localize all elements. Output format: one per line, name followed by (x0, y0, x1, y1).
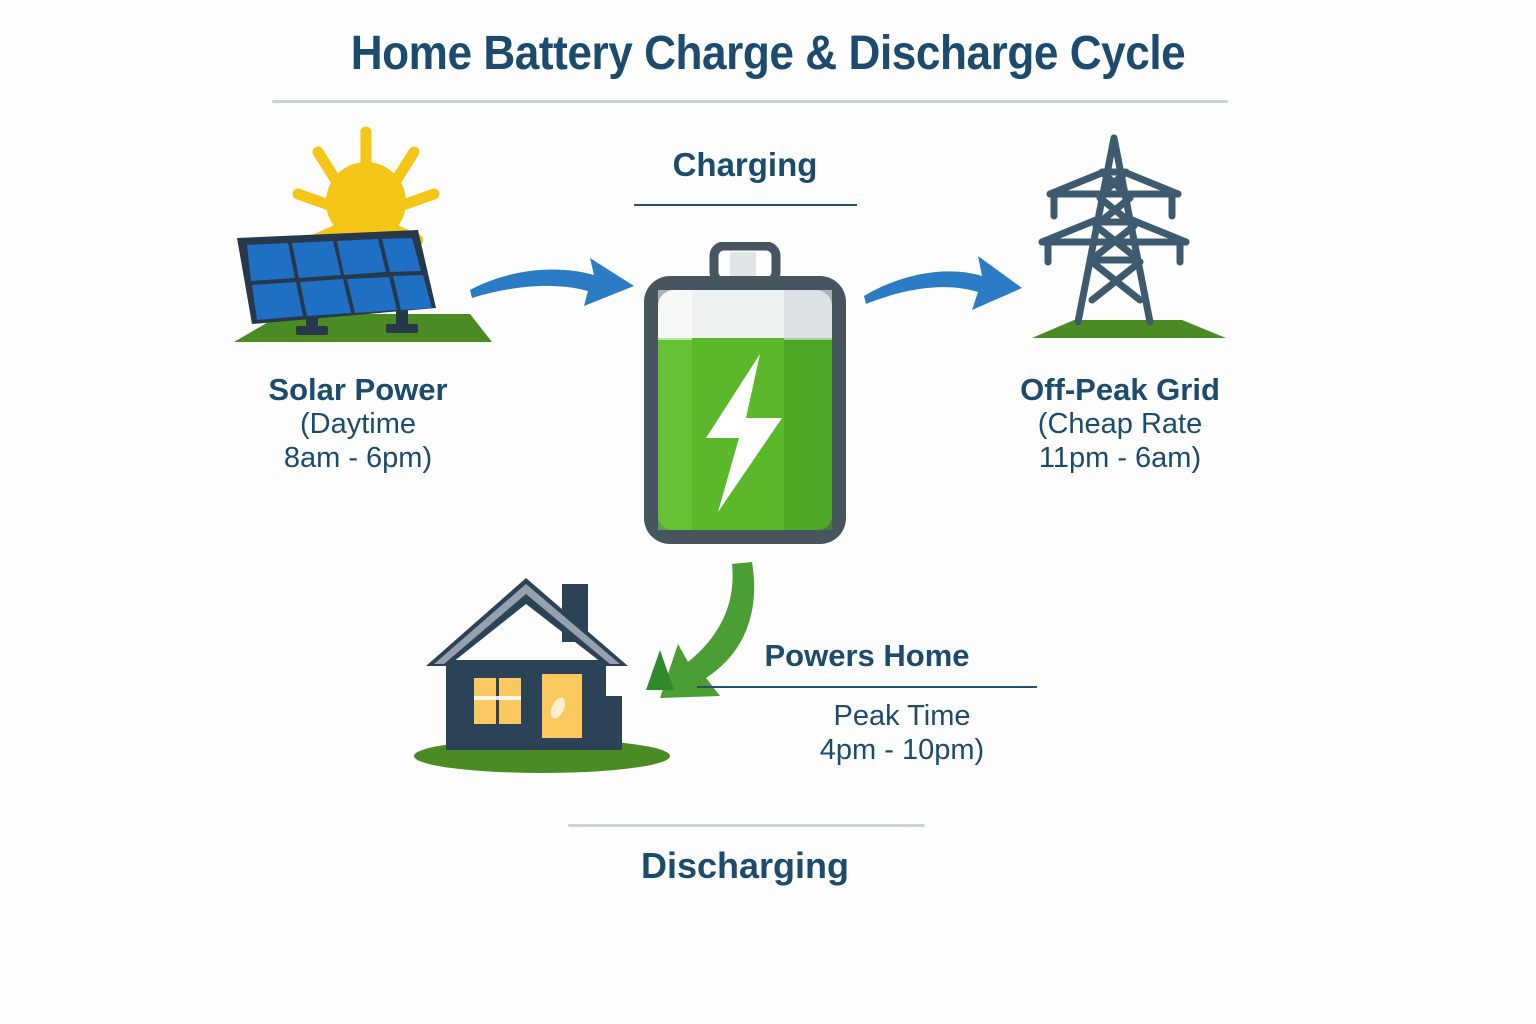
power-pylon-icon (1020, 122, 1236, 352)
grid-label-group: Off-Peak Grid (Cheap Rate 11pm - 6am) (960, 372, 1280, 475)
blue-curved-arrow-right-icon-2 (858, 248, 1028, 320)
powers-home-underline (697, 686, 1037, 688)
home-detail: Peak Time (752, 700, 1052, 734)
home-title: Powers Home (717, 638, 1017, 674)
house-icon (410, 560, 674, 780)
solar-time: 8am - 6pm) (198, 442, 518, 476)
home-time: 4pm - 10pm) (752, 734, 1052, 768)
discharging-label: Discharging (595, 845, 895, 887)
grid-time: 11pm - 6am) (960, 442, 1280, 476)
solar-label-group: Solar Power (Daytime 8am - 6pm) (198, 372, 518, 475)
solar-detail: (Daytime (198, 408, 518, 442)
discharging-divider (568, 824, 925, 827)
solar-panel-with-sun-icon (222, 118, 502, 358)
home-detail-group: Peak Time 4pm - 10pm) (752, 700, 1052, 767)
page-title: Home Battery Charge & Discharge Cycle (61, 26, 1474, 81)
grid-detail: (Cheap Rate (960, 408, 1280, 442)
home-label-group: Powers Home (717, 638, 1017, 674)
battery-charging-icon (634, 242, 856, 552)
title-divider (272, 100, 1228, 103)
solar-title: Solar Power (198, 372, 518, 408)
charging-label: Charging (595, 146, 895, 184)
blue-curved-arrow-right-icon (462, 250, 642, 320)
diagram-canvas: Home Battery Charge & Discharge Cycle (0, 0, 1536, 1024)
grid-title: Off-Peak Grid (960, 372, 1280, 408)
charging-underline (634, 204, 857, 206)
